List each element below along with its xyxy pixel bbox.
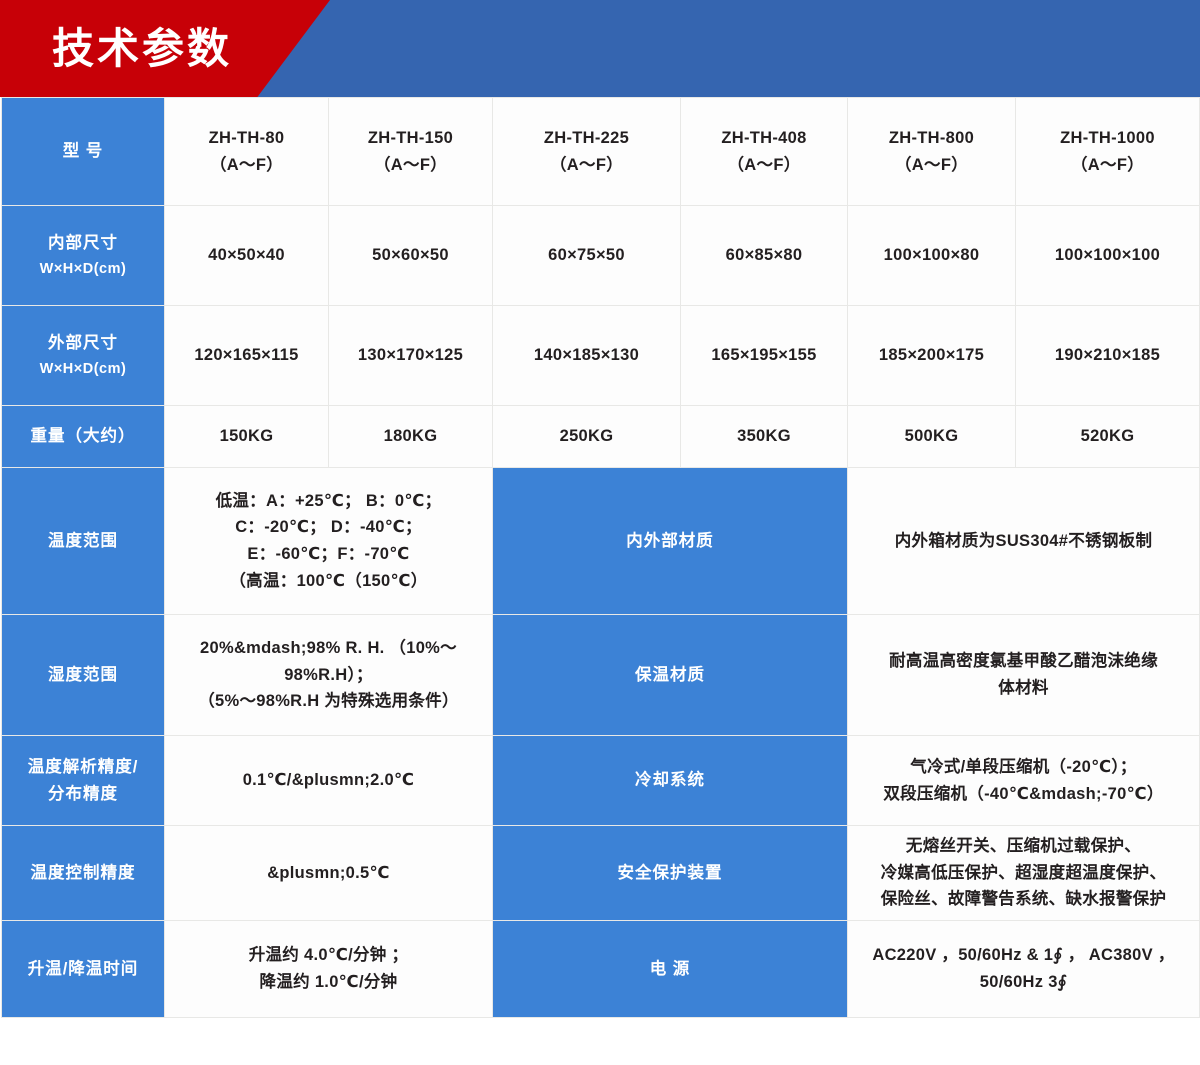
label-main: 内部尺寸	[8, 230, 158, 257]
label-line-2: 分布精度	[8, 781, 158, 808]
cell-outer-dim-6: 190×210×185	[1016, 306, 1200, 406]
cell-humidity-range-value: 20%&mdash;98% R. H. （10%～ 98%R.H）； （5%～9…	[165, 615, 493, 736]
row-label-power-supply: 电 源	[493, 921, 848, 1018]
row-label-outer-dimension: 外部尺寸 W×H×D(cm)	[2, 306, 165, 406]
humidity-line-2: 98%R.H）；	[171, 662, 486, 689]
model-name: ZH-TH-408	[687, 125, 841, 152]
table-row-temperature-accuracy: 温度解析精度/ 分布精度 0.1℃/&plusmn;2.0℃ 冷却系统 气冷式/…	[2, 736, 1200, 826]
label-line-1: 温度解析精度/	[8, 754, 158, 781]
temp-line-4: （高温：100℃（150℃）	[171, 568, 486, 595]
cell-inner-outer-material-value: 内外箱材质为SUS304#不锈钢板制	[848, 468, 1200, 615]
cell-inner-dim-1: 40×50×40	[165, 206, 329, 306]
cell-inner-dim-5: 100×100×80	[848, 206, 1016, 306]
cell-heat-cool-rate-value: 升温约 4.0℃/分钟 ； 降温约 1.0℃/分钟	[165, 921, 493, 1018]
cell-cooling-system-value: 气冷式/单段压缩机（-20℃）； 双段压缩机（-40℃&mdash;-70℃）	[848, 736, 1200, 826]
row-label-safety-devices: 安全保护装置	[493, 826, 848, 921]
table-row-model: 型 号 ZH-TH-80 （A～F） ZH-TH-150 （A～F） ZH-TH…	[2, 98, 1200, 206]
row-label-weight: 重量（大约）	[2, 406, 165, 468]
cell-weight-3: 250KG	[493, 406, 681, 468]
cell-weight-1: 150KG	[165, 406, 329, 468]
cell-model-5: ZH-TH-800 （A～F）	[848, 98, 1016, 206]
technical-specification-table: 型 号 ZH-TH-80 （A～F） ZH-TH-150 （A～F） ZH-TH…	[1, 97, 1200, 1018]
model-name: ZH-TH-800	[854, 125, 1009, 152]
model-variant: （A～F）	[1022, 152, 1193, 179]
table-row-temperature-control: 温度控制精度 &plusmn;0.5℃ 安全保护装置 无熔丝开关、压缩机过载保护…	[2, 826, 1200, 921]
row-label-insulation-material: 保温材质	[493, 615, 848, 736]
cell-weight-5: 500KG	[848, 406, 1016, 468]
label-main: 外部尺寸	[8, 330, 158, 357]
spec-table-wrapper: 型 号 ZH-TH-80 （A～F） ZH-TH-150 （A～F） ZH-TH…	[0, 97, 1200, 1018]
cell-model-2: ZH-TH-150 （A～F）	[329, 98, 493, 206]
safety-line-1: 无熔丝开关、压缩机过载保护、	[854, 833, 1193, 860]
power-line-2: 50/60Hz 3∮	[854, 969, 1193, 996]
table-row-temperature-range: 温度范围 低温：A：+25℃； B：0℃； C：-20℃； D：-40℃； E：…	[2, 468, 1200, 615]
page-title: 技术参数	[52, 28, 232, 70]
model-name: ZH-TH-150	[335, 125, 486, 152]
cell-outer-dim-5: 185×200×175	[848, 306, 1016, 406]
temp-line-3: E：-60℃；F：-70℃	[171, 541, 486, 568]
row-label-cooling-system: 冷却系统	[493, 736, 848, 826]
temp-line-2: C：-20℃； D：-40℃；	[171, 514, 486, 541]
row-label-humidity-range: 湿度范围	[2, 615, 165, 736]
table-row-humidity-range: 湿度范围 20%&mdash;98% R. H. （10%～ 98%R.H）； …	[2, 615, 1200, 736]
row-label-inner-outer-material: 内外部材质	[493, 468, 848, 615]
humidity-line-1: 20%&mdash;98% R. H. （10%～	[171, 635, 486, 662]
cell-inner-dim-3: 60×75×50	[493, 206, 681, 306]
bottom-spacer	[0, 1018, 1200, 1044]
model-variant: （A～F）	[499, 152, 674, 179]
insulation-line-2: 体材料	[854, 675, 1193, 702]
row-label-heat-cool-rate: 升温/降温时间	[2, 921, 165, 1018]
model-variant: （A～F）	[335, 152, 486, 179]
model-name: ZH-TH-1000	[1022, 125, 1193, 152]
table-row-heat-cool-rate: 升温/降温时间 升温约 4.0℃/分钟 ； 降温约 1.0℃/分钟 电 源 AC…	[2, 921, 1200, 1018]
cell-inner-dim-2: 50×60×50	[329, 206, 493, 306]
cell-outer-dim-3: 140×185×130	[493, 306, 681, 406]
cell-temperature-control-value: &plusmn;0.5℃	[165, 826, 493, 921]
cell-power-supply-value: AC220V ，50/60Hz & 1∮ ， AC380V ， 50/60Hz …	[848, 921, 1200, 1018]
label-sub: W×H×D(cm)	[8, 358, 158, 381]
cell-temperature-accuracy-value: 0.1℃/&plusmn;2.0℃	[165, 736, 493, 826]
row-label-temperature-control: 温度控制精度	[2, 826, 165, 921]
cell-outer-dim-2: 130×170×125	[329, 306, 493, 406]
model-name: ZH-TH-225	[499, 125, 674, 152]
cell-weight-2: 180KG	[329, 406, 493, 468]
cell-temperature-range-value: 低温：A：+25℃； B：0℃； C：-20℃； D：-40℃； E：-60℃；…	[165, 468, 493, 615]
cell-inner-dim-4: 60×85×80	[681, 206, 848, 306]
page-banner: 技术参数	[0, 0, 1200, 97]
humidity-line-3: （5%～98%R.H 为特殊选用条件）	[171, 688, 486, 715]
row-label-model: 型 号	[2, 98, 165, 206]
model-variant: （A～F）	[854, 152, 1009, 179]
table-row-inner-dimension: 内部尺寸 W×H×D(cm) 40×50×40 50×60×50 60×75×5…	[2, 206, 1200, 306]
safety-line-2: 冷媒高低压保护、超湿度超温度保护、	[854, 860, 1193, 887]
cell-weight-6: 520KG	[1016, 406, 1200, 468]
cell-safety-devices-value: 无熔丝开关、压缩机过载保护、 冷媒高低压保护、超湿度超温度保护、 保险丝、故障警…	[848, 826, 1200, 921]
cell-weight-4: 350KG	[681, 406, 848, 468]
cell-insulation-material-value: 耐高温高密度氯基甲酸乙醋泡沫绝缘 体材料	[848, 615, 1200, 736]
rate-line-1: 升温约 4.0℃/分钟 ；	[171, 942, 486, 969]
cell-model-3: ZH-TH-225 （A～F）	[493, 98, 681, 206]
cell-model-4: ZH-TH-408 （A～F）	[681, 98, 848, 206]
cooling-line-1: 气冷式/单段压缩机（-20℃）；	[854, 754, 1193, 781]
model-variant: （A～F）	[687, 152, 841, 179]
rate-line-2: 降温约 1.0℃/分钟	[171, 969, 486, 996]
cooling-line-2: 双段压缩机（-40℃&mdash;-70℃）	[854, 781, 1193, 808]
temp-line-1: 低温：A：+25℃； B：0℃；	[171, 488, 486, 515]
model-name: ZH-TH-80	[171, 125, 322, 152]
table-row-weight: 重量（大约） 150KG 180KG 250KG 350KG 500KG 520…	[2, 406, 1200, 468]
cell-model-6: ZH-TH-1000 （A～F）	[1016, 98, 1200, 206]
label-sub: W×H×D(cm)	[8, 258, 158, 281]
cell-outer-dim-4: 165×195×155	[681, 306, 848, 406]
cell-model-1: ZH-TH-80 （A～F）	[165, 98, 329, 206]
cell-outer-dim-1: 120×165×115	[165, 306, 329, 406]
row-label-inner-dimension: 内部尺寸 W×H×D(cm)	[2, 206, 165, 306]
power-line-1: AC220V ，50/60Hz & 1∮ ， AC380V ，	[854, 942, 1193, 969]
model-variant: （A～F）	[171, 152, 322, 179]
table-row-outer-dimension: 外部尺寸 W×H×D(cm) 120×165×115 130×170×125 1…	[2, 306, 1200, 406]
safety-line-3: 保险丝、故障警告系统、缺水报警保护	[854, 886, 1193, 913]
row-label-temperature-accuracy: 温度解析精度/ 分布精度	[2, 736, 165, 826]
insulation-line-1: 耐高温高密度氯基甲酸乙醋泡沫绝缘	[854, 648, 1193, 675]
cell-inner-dim-6: 100×100×100	[1016, 206, 1200, 306]
row-label-temperature-range: 温度范围	[2, 468, 165, 615]
